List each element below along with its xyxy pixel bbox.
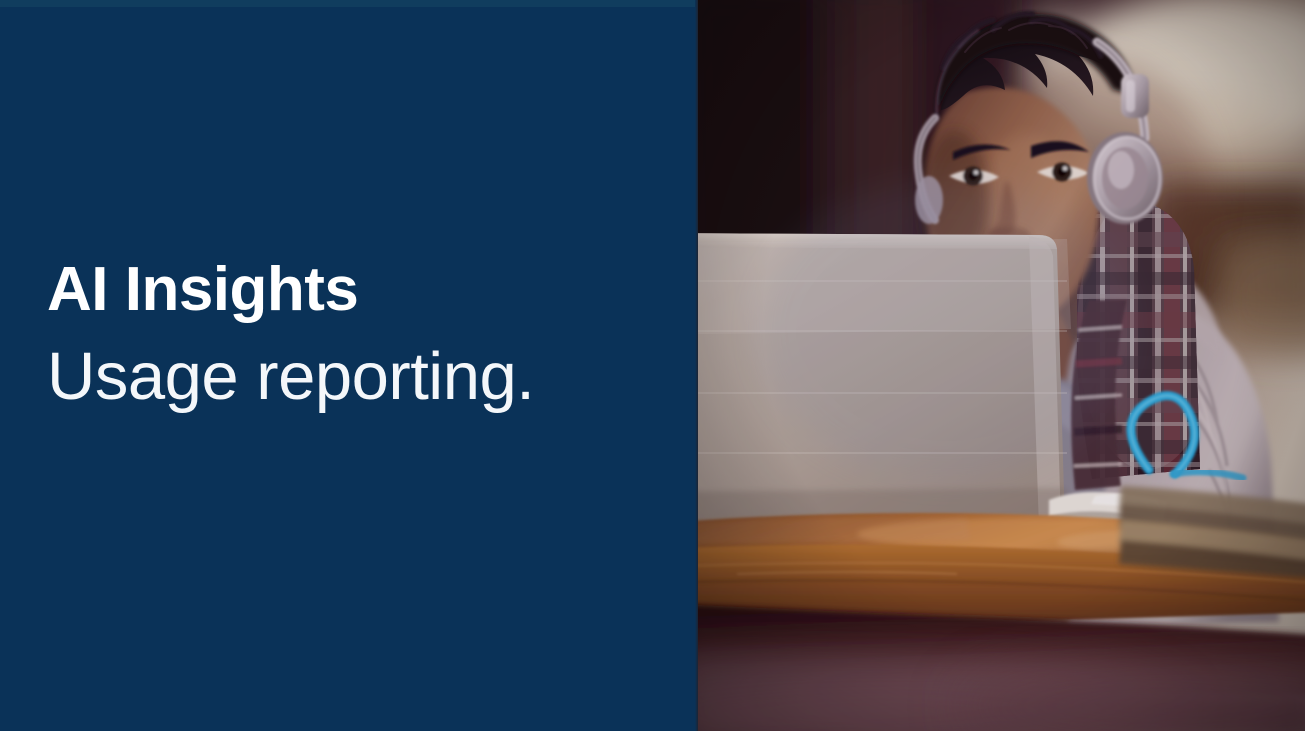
- title-panel: AI Insights Usage reporting.: [0, 0, 697, 731]
- panel-photo-divider: [695, 0, 698, 731]
- slide-root: AI Insights Usage reporting.: [0, 0, 1305, 731]
- hero-photo-illustration: [697, 0, 1305, 731]
- page-subtitle: Usage reporting.: [47, 342, 667, 412]
- panel-top-edge: [0, 0, 697, 7]
- title-block: AI Insights Usage reporting.: [47, 258, 667, 412]
- hero-photo: [697, 0, 1305, 731]
- page-title: AI Insights: [47, 258, 667, 322]
